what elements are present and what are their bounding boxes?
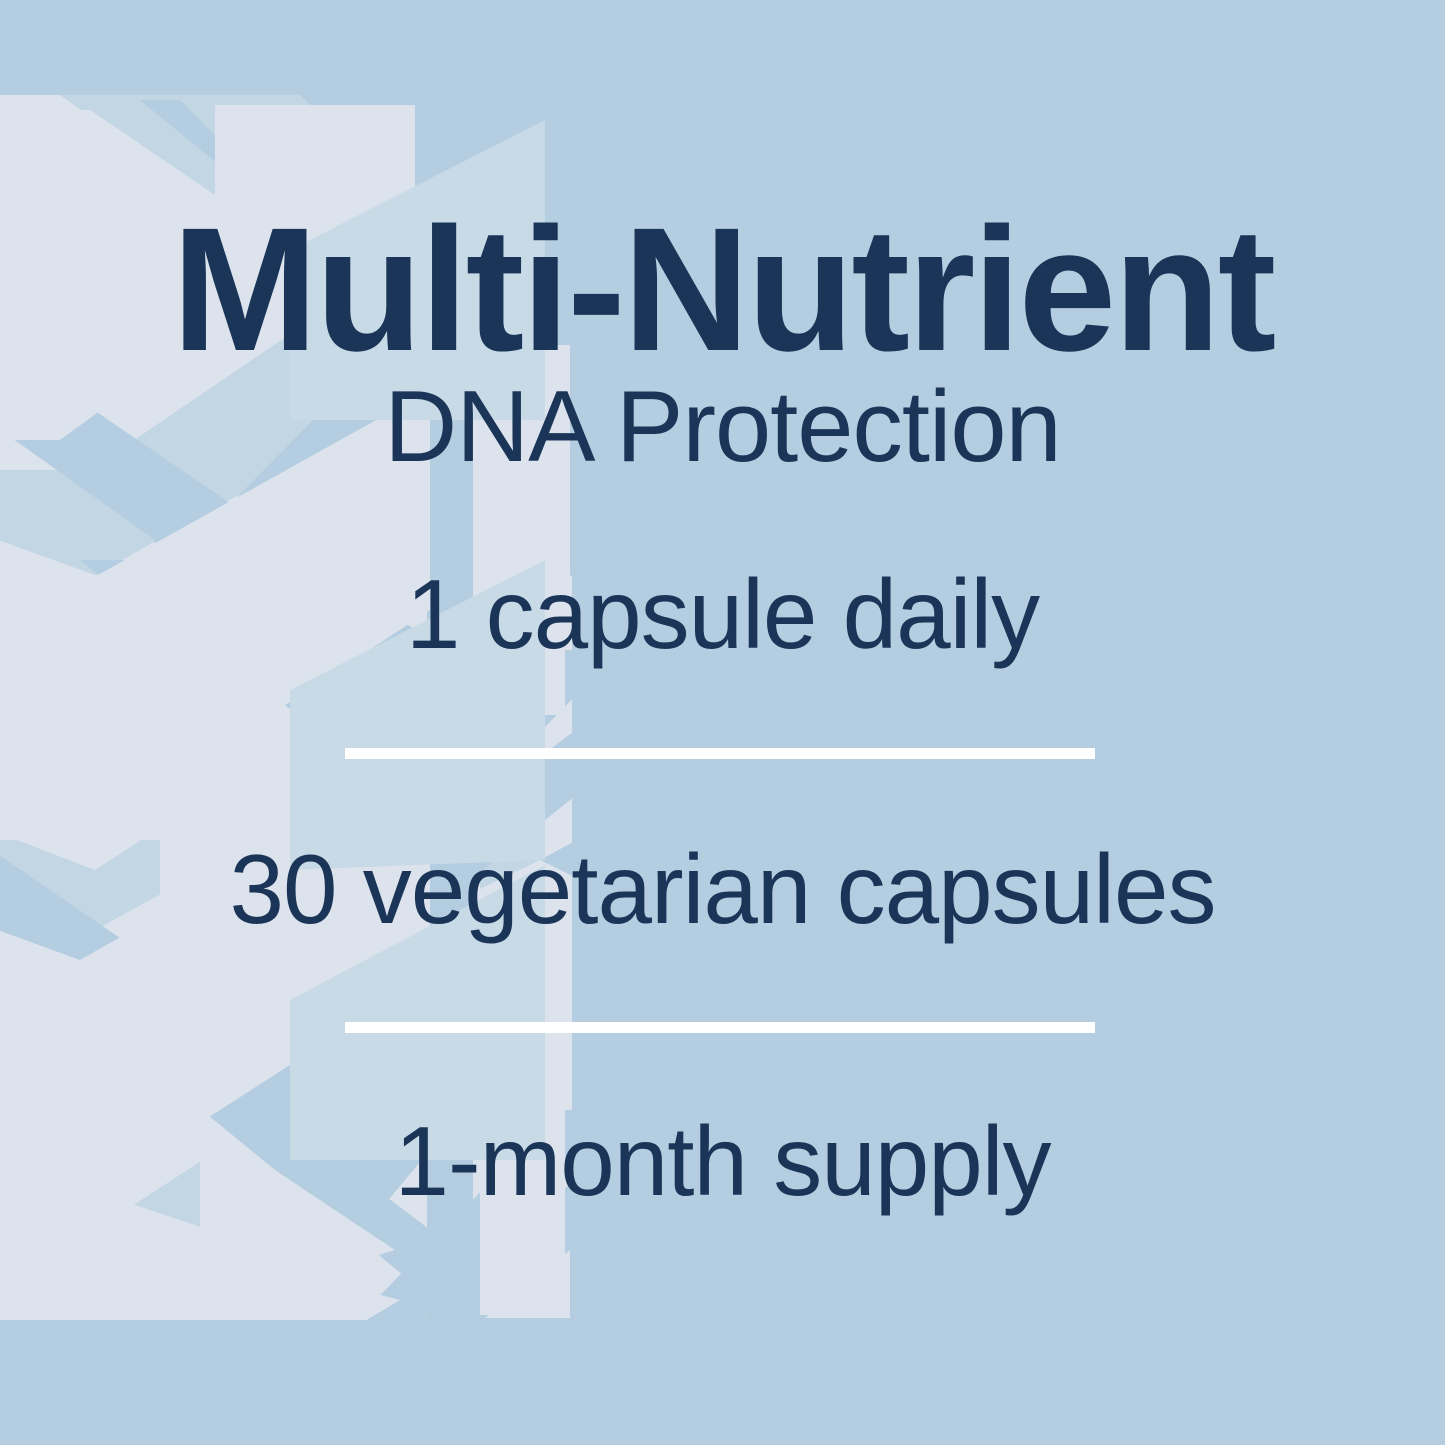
product-info-card: Multi-Nutrient DNA Protection 1 capsule … — [0, 0, 1445, 1445]
card-text-stack: Multi-Nutrient DNA Protection 1 capsule … — [0, 0, 1445, 1445]
fact-dosage: 1 capsule daily — [0, 565, 1445, 663]
divider-rule-bottom — [345, 1022, 1095, 1033]
product-subtitle: DNA Protection — [0, 377, 1445, 478]
page-title: Multi-Nutrient — [0, 202, 1445, 378]
fact-supply: 1-month supply — [0, 1112, 1445, 1210]
fact-count: 30 vegetarian capsules — [0, 840, 1445, 938]
divider-rule-top — [345, 748, 1095, 759]
